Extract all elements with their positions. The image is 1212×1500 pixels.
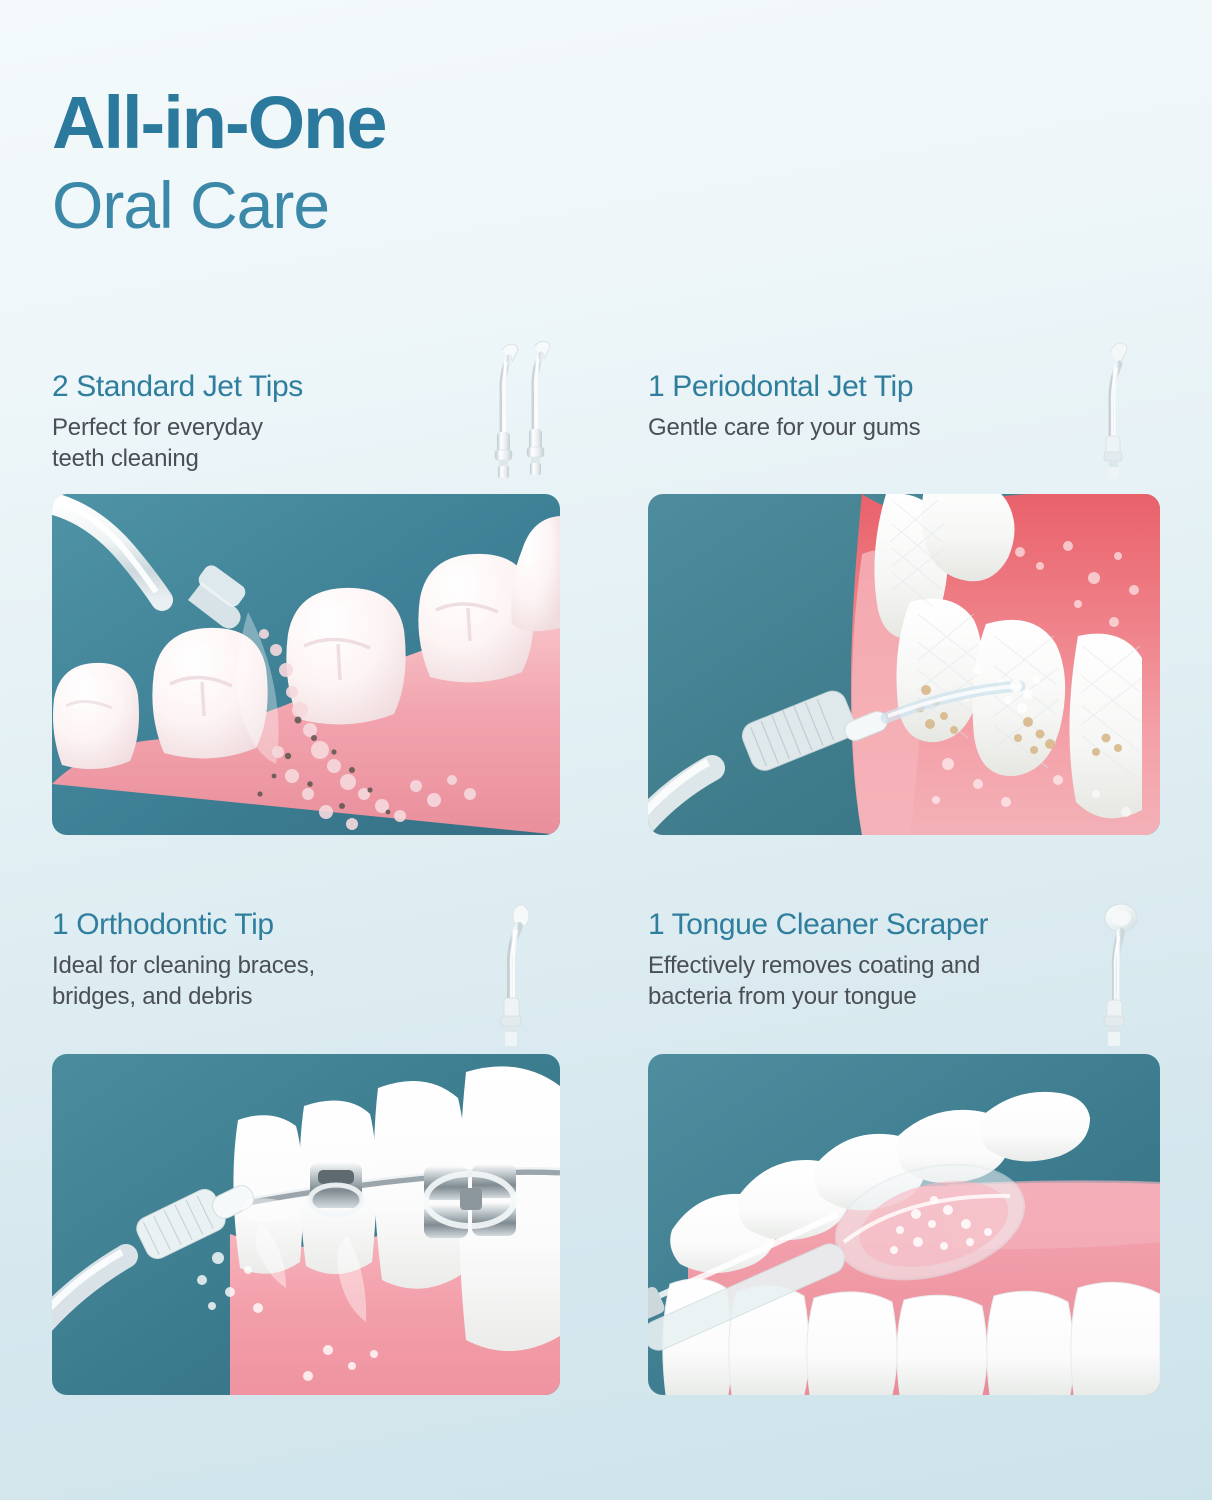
feature-description: Effectively removes coating and bacteria… — [648, 950, 1160, 1012]
feature-description-line-1: Effectively removes coating and — [648, 950, 1160, 981]
standard-jet-tip-icon — [476, 332, 572, 487]
feature-description: Ideal for cleaning braces, bridges, and … — [52, 950, 560, 1012]
feature-heading: 1 Periodontal Jet Tip — [648, 370, 1160, 405]
feature-tongue-cleaner-scraper: 1 Tongue Cleaner Scraper Effectively rem… — [648, 908, 1160, 1012]
title-line-2: Oral Care — [52, 164, 386, 247]
feature-description: Gentle care for your gums — [648, 412, 1160, 443]
photo-standard-jet-tips — [52, 494, 560, 835]
feature-periodontal-jet-tip: 1 Periodontal Jet Tip Gentle care for yo… — [648, 370, 1160, 443]
title-line-1: All-in-One — [52, 86, 386, 160]
tongue-scraper-icon — [1092, 900, 1152, 1055]
photo-periodontal-jet-tip — [648, 494, 1160, 835]
feature-description-line-2: bacteria from your tongue — [648, 981, 1160, 1012]
feature-heading: 1 Tongue Cleaner Scraper — [648, 908, 1160, 943]
feature-description-line-2: bridges, and debris — [52, 981, 560, 1012]
feature-heading: 1 Orthodontic Tip — [52, 908, 560, 943]
photo-orthodontic-tip — [52, 1054, 560, 1395]
feature-orthodontic-tip: 1 Orthodontic Tip Ideal for cleaning bra… — [52, 908, 560, 1012]
page-title: All-in-One Oral Care — [52, 86, 386, 247]
orthodontic-tip-icon — [490, 900, 550, 1055]
photo-tongue-cleaner-scraper — [648, 1054, 1160, 1395]
periodontal-jet-tip-icon — [1092, 336, 1152, 489]
feature-description-line-1: Ideal for cleaning braces, — [52, 950, 560, 981]
feature-description-line-1: Gentle care for your gums — [648, 412, 1160, 443]
